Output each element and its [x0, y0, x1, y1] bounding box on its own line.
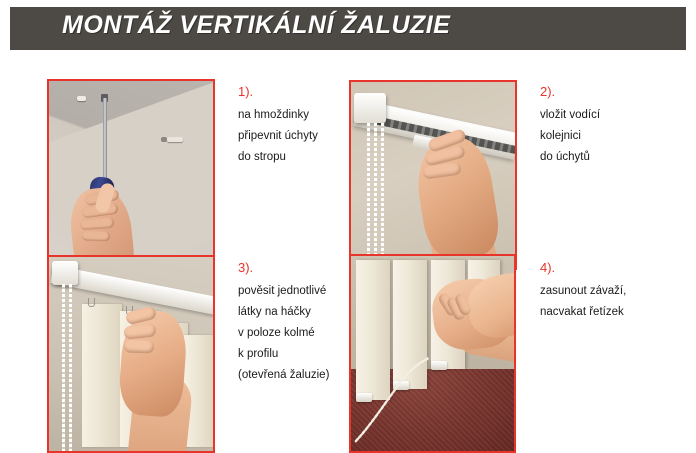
step-1-number: 1).: [238, 81, 343, 102]
step-2-text: 2). vložit vodící kolejnici do úchytů: [540, 81, 650, 168]
vertical-slat-icon: [82, 304, 122, 448]
step-1-text: 1). na hmoždinky připevnit úchyty do str…: [238, 81, 343, 168]
finger-icon: [80, 217, 115, 230]
bottom-chain-icon: [354, 342, 455, 443]
slat-hook-icon: [88, 298, 95, 307]
step-4-text: 4). zasunout závaží, nacvakat řetízek: [540, 257, 660, 323]
step-2-line-2: kolejnici: [540, 126, 650, 147]
step-1-line-3: do stropu: [238, 147, 343, 168]
page-title: MONTÁŽ VERTIKÁLNÍ ŽALUZIE: [62, 11, 450, 40]
step-3-line-2: látky na háčky: [238, 302, 353, 323]
step-3-line-3: v poloze kolmé: [238, 323, 353, 344]
rail-end-cap-icon: [52, 261, 78, 285]
control-cord-icon: [381, 123, 384, 268]
photo-screwdriver-ceiling-anchor: [47, 79, 215, 268]
control-cord-icon: [374, 123, 377, 268]
step-4-line-2: nacvakat řetízek: [540, 302, 660, 323]
step-3-text: 3). pověsit jednotlivé látky na háčky v …: [238, 257, 353, 386]
step-4-number: 4).: [540, 257, 660, 278]
ceiling-anchor-icon: [77, 96, 86, 101]
finger-icon: [124, 340, 154, 354]
rail-end-cap-icon: [354, 93, 386, 123]
instruction-steps-grid: 1). na hmoždinky připevnit úchyty do str…: [0, 50, 696, 424]
step-1-line-1: na hmoždinky: [238, 105, 343, 126]
control-cord-icon: [69, 284, 72, 451]
step-3-line-4: k profilu: [238, 344, 353, 365]
photo-weights-and-chain: [349, 254, 516, 453]
step-3-line-1: pověsit jednotlivé: [238, 281, 353, 302]
finger-icon: [82, 230, 110, 241]
control-cord-icon: [367, 123, 370, 268]
step-1-line-2: připevnit úchyty: [238, 126, 343, 147]
step-2-line-3: do úchytů: [540, 147, 650, 168]
ceiling-bracket-icon: [167, 137, 183, 142]
step-4-line-1: zasunout závaží,: [540, 281, 660, 302]
step-2-line-1: vložit vodící: [540, 105, 650, 126]
step-2-number: 2).: [540, 81, 650, 102]
step-3-number: 3).: [238, 257, 353, 278]
control-cord-icon: [62, 284, 65, 451]
photo-rail-into-brackets: [349, 80, 517, 270]
step-3-line-5: (otevřená žaluzie): [238, 365, 353, 386]
photo-hanging-slats-on-hooks: [47, 255, 215, 453]
